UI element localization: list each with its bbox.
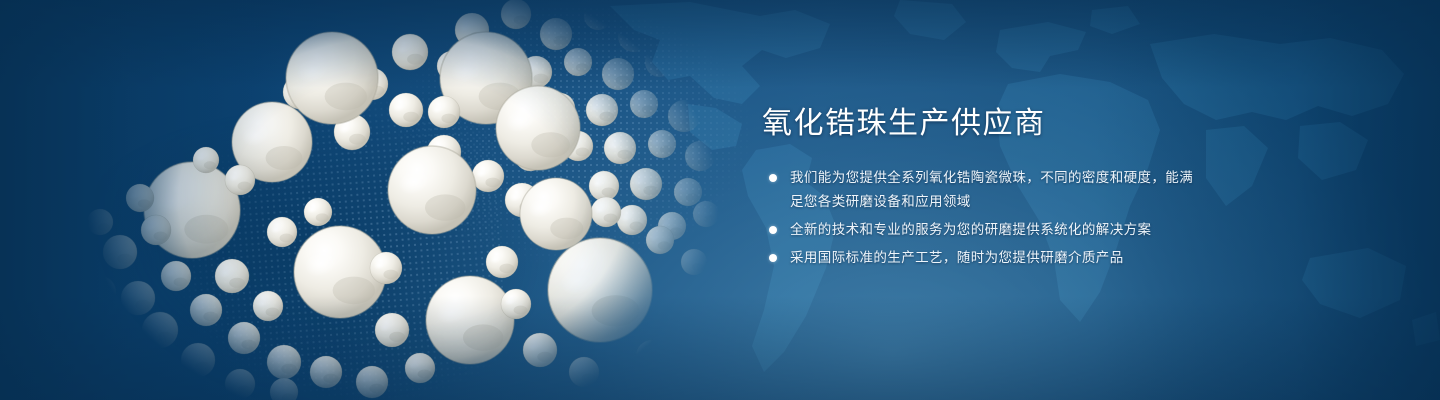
- feature-list: 我们能为您提供全系列氧化锆陶瓷微珠，不同的密度和硬度，能满足您各类研磨设备和应用…: [762, 166, 1202, 270]
- hero-banner: 氧化锆珠生产供应商 我们能为您提供全系列氧化锆陶瓷微珠，不同的密度和硬度，能满足…: [0, 0, 1440, 400]
- page-title: 氧化锆珠生产供应商: [762, 104, 1202, 144]
- list-item: 全新的技术和专业的服务为您的研磨提供系统化的解决方案: [762, 218, 1202, 242]
- list-item: 我们能为您提供全系列氧化锆陶瓷微珠，不同的密度和硬度，能满足您各类研磨设备和应用…: [762, 166, 1202, 214]
- banner-copy: 氧化锆珠生产供应商 我们能为您提供全系列氧化锆陶瓷微珠，不同的密度和硬度，能满足…: [762, 104, 1202, 274]
- bullet-dot-icon: [769, 226, 777, 234]
- list-item: 采用国际标准的生产工艺，随时为您提供研磨介质产品: [762, 246, 1202, 270]
- bullet-dot-icon: [769, 174, 777, 182]
- list-item-text: 我们能为您提供全系列氧化锆陶瓷微珠，不同的密度和硬度，能满足您各类研磨设备和应用…: [790, 170, 1193, 209]
- background-vignette: [0, 0, 1440, 400]
- list-item-text: 采用国际标准的生产工艺，随时为您提供研磨介质产品: [790, 250, 1124, 265]
- list-item-text: 全新的技术和专业的服务为您的研磨提供系统化的解决方案: [790, 222, 1151, 237]
- bullet-dot-icon: [769, 254, 777, 262]
